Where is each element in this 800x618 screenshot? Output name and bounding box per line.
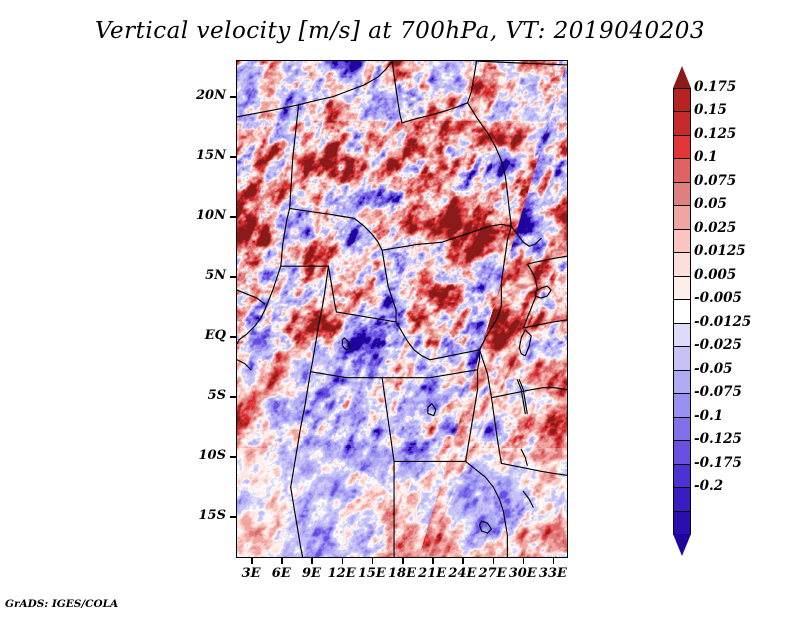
colorbar-band <box>673 88 691 113</box>
colorbar-tick-label: -0.025 <box>694 337 742 353</box>
y-tick-mark <box>230 456 236 458</box>
y-tick-label: 10N <box>196 208 226 223</box>
colorbar-tick-label: 0.05 <box>694 196 727 212</box>
colorbar-band <box>673 299 691 324</box>
colorbar-tick-label: -0.075 <box>694 384 742 400</box>
colorbar-band <box>673 464 691 489</box>
colorbar-tick-label: 0.15 <box>694 102 727 118</box>
colorbar-band <box>673 205 691 230</box>
colorbar-tick-label: 0.075 <box>694 173 736 189</box>
colorbar-band <box>673 229 691 254</box>
colorbar-tick-label: 0.125 <box>694 126 736 142</box>
colorbar-band <box>673 323 691 348</box>
x-tick-mark <box>432 558 434 564</box>
y-tick-label: 10S <box>199 448 226 463</box>
y-tick-mark <box>230 396 236 398</box>
x-tick-mark <box>311 558 313 564</box>
y-tick-mark <box>230 156 236 158</box>
y-tick-label: 20N <box>196 88 226 103</box>
x-tick-mark <box>402 558 404 564</box>
colorbar-band <box>673 346 691 371</box>
x-tick-mark <box>462 558 464 564</box>
colorbar-tick-label: -0.125 <box>694 431 742 447</box>
y-tick-label: 15S <box>199 508 226 523</box>
colorbar-band <box>673 158 691 183</box>
y-tick-label: 5S <box>208 388 226 403</box>
page-title: Vertical velocity [m/s] at 700hPa, VT: 2… <box>0 18 800 44</box>
colorbar <box>673 66 691 556</box>
y-tick-label: 15N <box>196 148 226 163</box>
colorbar-band <box>673 252 691 277</box>
colorbar-band <box>673 111 691 136</box>
colorbar-band <box>673 276 691 301</box>
x-tick-mark <box>342 558 344 564</box>
colorbar-band <box>673 370 691 395</box>
colorbar-tick-label: -0.1 <box>694 408 723 424</box>
colorbar-tick-label: 0.025 <box>694 220 736 236</box>
x-tick-mark <box>281 558 283 564</box>
colorbar-tick-label: 0.005 <box>694 267 736 283</box>
y-tick-mark <box>230 216 236 218</box>
footer-credit: GrADS: IGES/COLA <box>5 598 118 610</box>
x-tick-label: 33E <box>529 566 577 581</box>
x-tick-mark <box>553 558 555 564</box>
y-tick-mark <box>230 336 236 338</box>
y-tick-label: EQ <box>205 328 226 343</box>
y-tick-mark <box>230 96 236 98</box>
colorbar-tick-label: -0.175 <box>694 455 742 471</box>
country-borders-overlay <box>237 61 567 557</box>
x-tick-mark <box>251 558 253 564</box>
colorbar-band <box>673 182 691 207</box>
x-tick-mark <box>523 558 525 564</box>
y-tick-mark <box>230 516 236 518</box>
colorbar-tick-label: 0.0125 <box>694 243 746 259</box>
colorbar-band <box>673 440 691 465</box>
colorbar-band <box>673 487 691 512</box>
colorbar-band <box>673 511 691 536</box>
colorbar-tick-label: -0.0125 <box>694 314 751 330</box>
x-tick-mark <box>493 558 495 564</box>
colorbar-arrow-min <box>673 534 691 556</box>
colorbar-band <box>673 393 691 418</box>
colorbar-tick-label: 0.1 <box>694 149 718 165</box>
y-tick-label: 5N <box>205 268 226 283</box>
colorbar-tick-label: -0.2 <box>694 478 723 494</box>
colorbar-tick-label: -0.005 <box>694 290 742 306</box>
y-tick-mark <box>230 276 236 278</box>
colorbar-arrow-max <box>673 66 691 88</box>
colorbar-band <box>673 135 691 160</box>
map-plot-area <box>236 60 568 558</box>
colorbar-tick-label: -0.05 <box>694 361 732 377</box>
colorbar-tick-label: 0.175 <box>694 79 736 95</box>
colorbar-band <box>673 417 691 442</box>
x-tick-mark <box>372 558 374 564</box>
